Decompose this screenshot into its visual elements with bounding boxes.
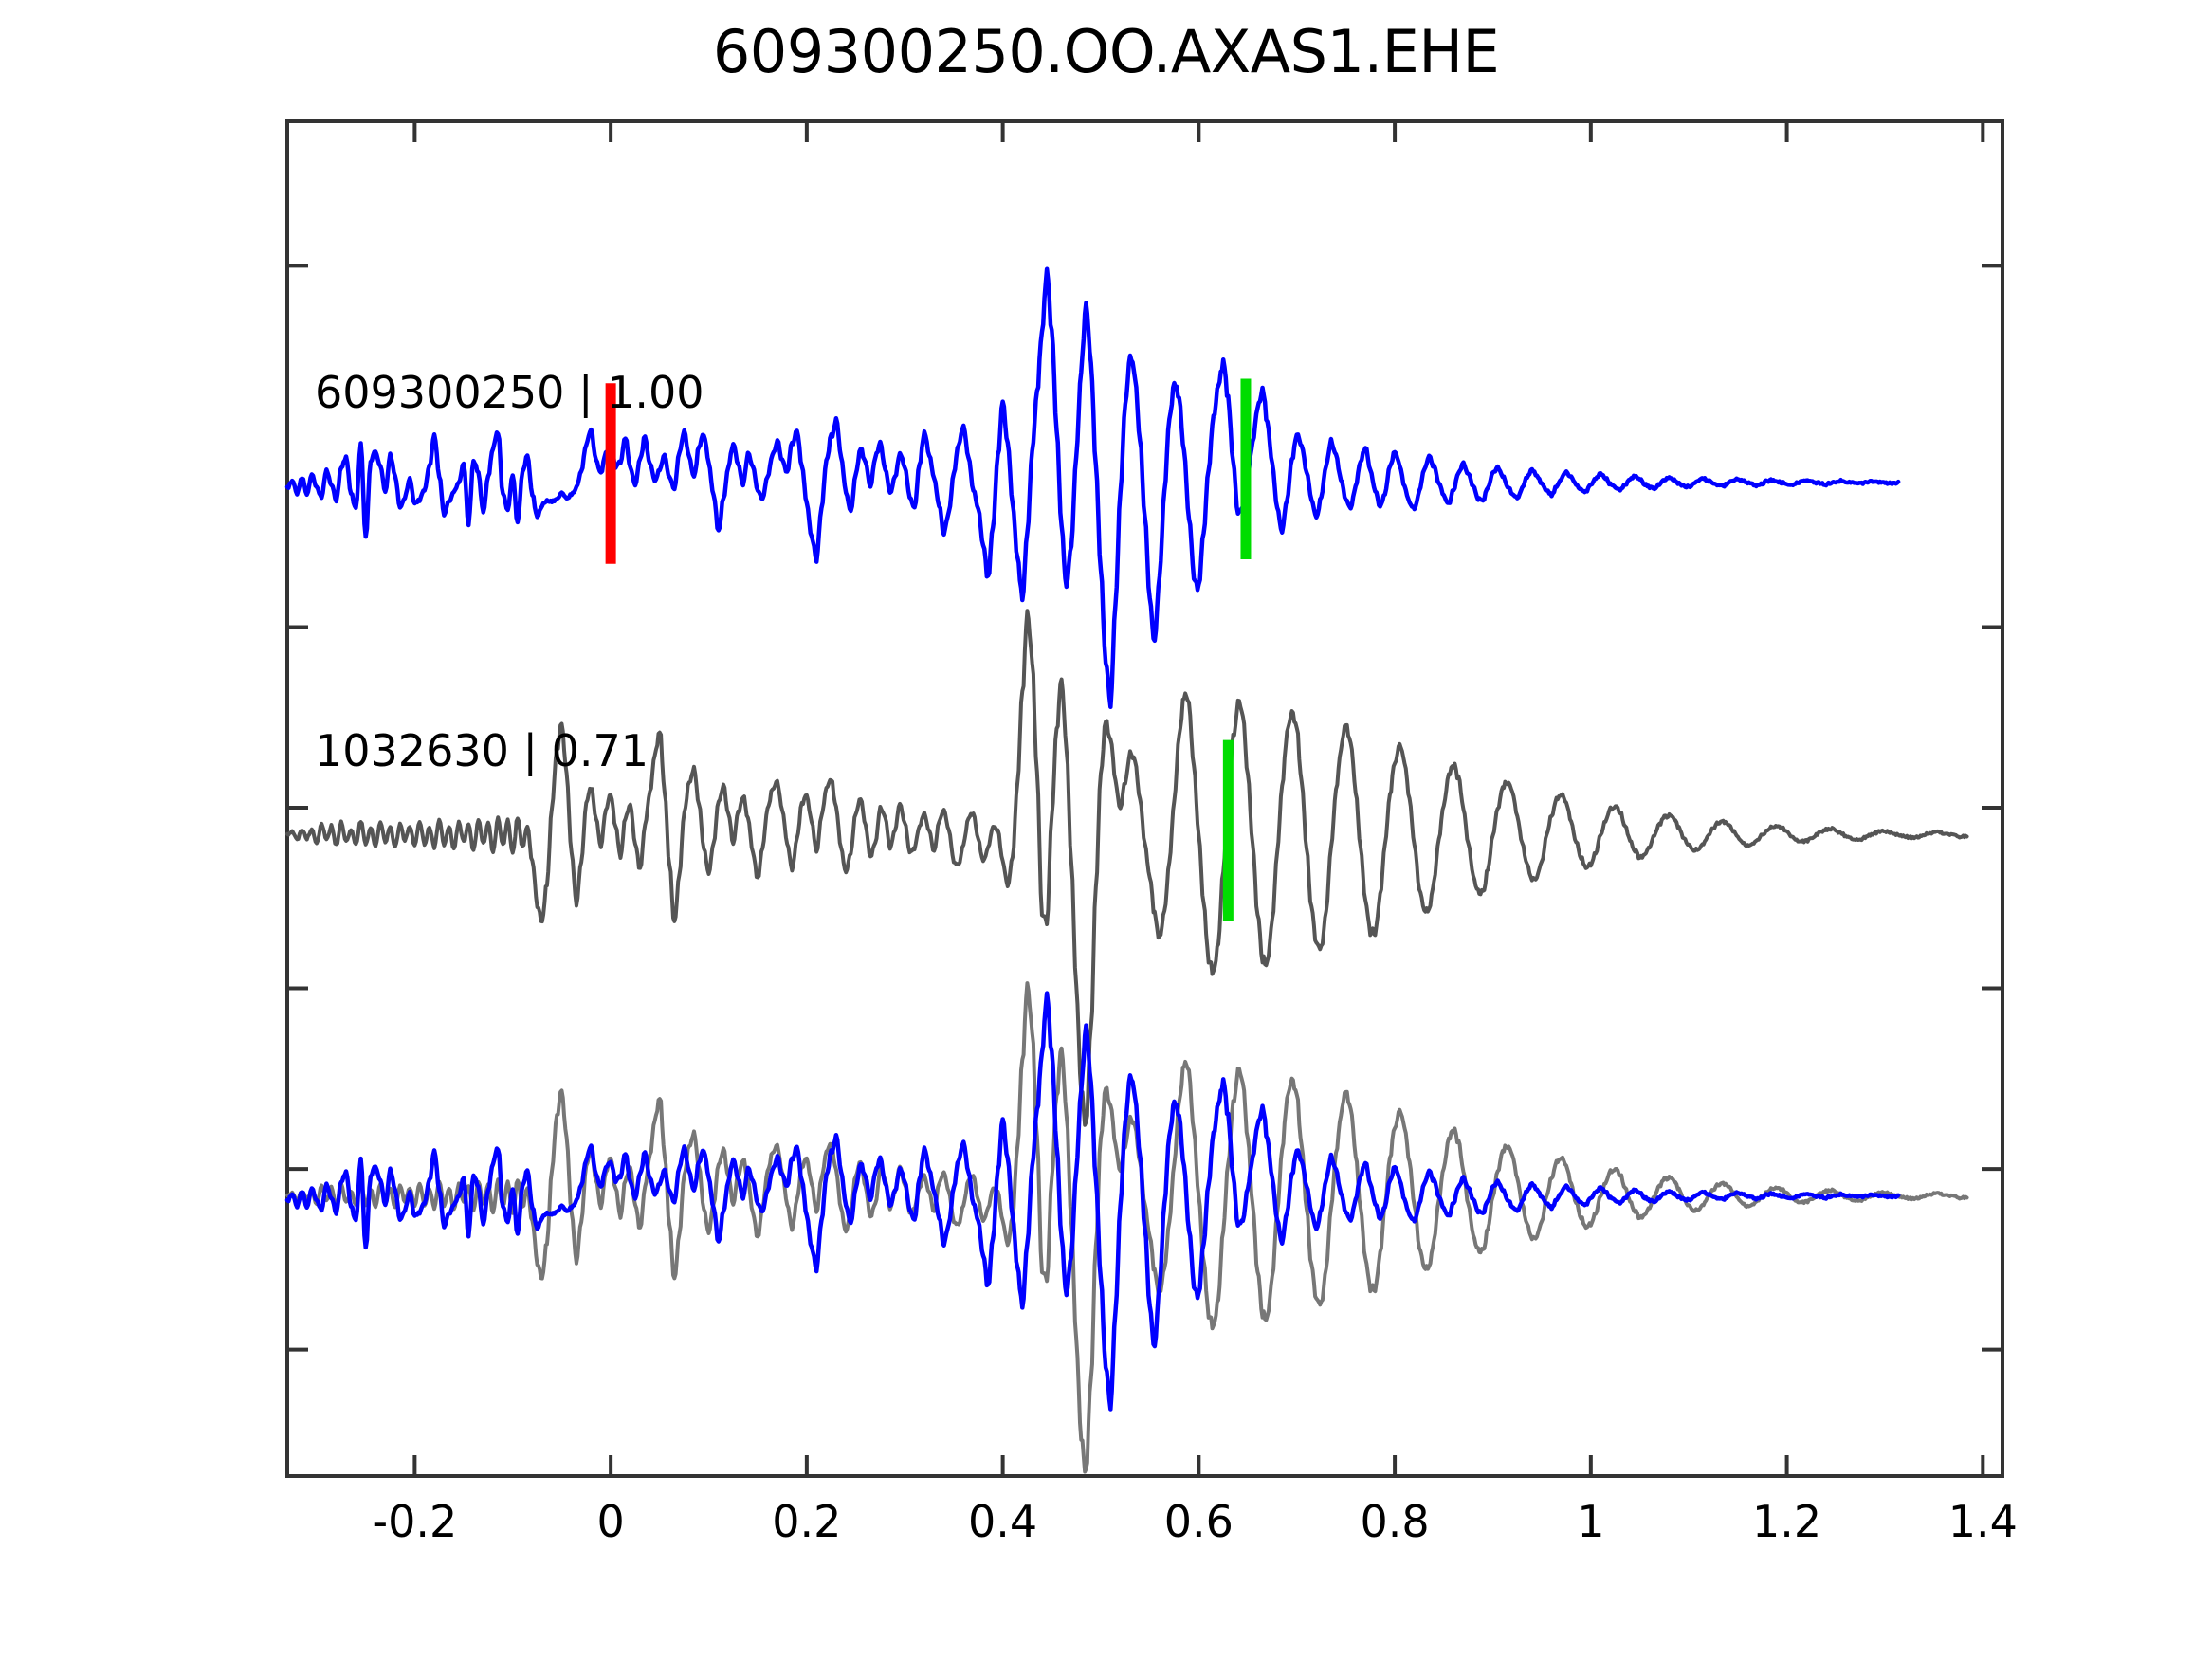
x-tick-label: 1.4 xyxy=(1948,1496,2018,1547)
x-tick-label: 0.4 xyxy=(968,1496,1037,1547)
x-tick-label: 1.2 xyxy=(1752,1496,1821,1547)
x-tick-label: 0 xyxy=(596,1496,624,1547)
x-tick-label: 1 xyxy=(1577,1496,1604,1547)
waveform-traces xyxy=(287,269,1967,1472)
x-tick-label: -0.2 xyxy=(372,1496,457,1547)
trace-label-template: 1032630 | 0.71 xyxy=(315,725,649,776)
x-tick-label: 0.6 xyxy=(1164,1496,1234,1547)
seismogram-figure: 609300250.OO.AXAS1.EHE 609300250 | 1.00 … xyxy=(0,0,2212,1659)
waveform-plot-area xyxy=(0,0,2212,1659)
x-tick-label: 0.8 xyxy=(1361,1496,1430,1547)
x-tick-label: 0.2 xyxy=(772,1496,841,1547)
trace-label-target: 609300250 | 1.00 xyxy=(315,367,704,418)
